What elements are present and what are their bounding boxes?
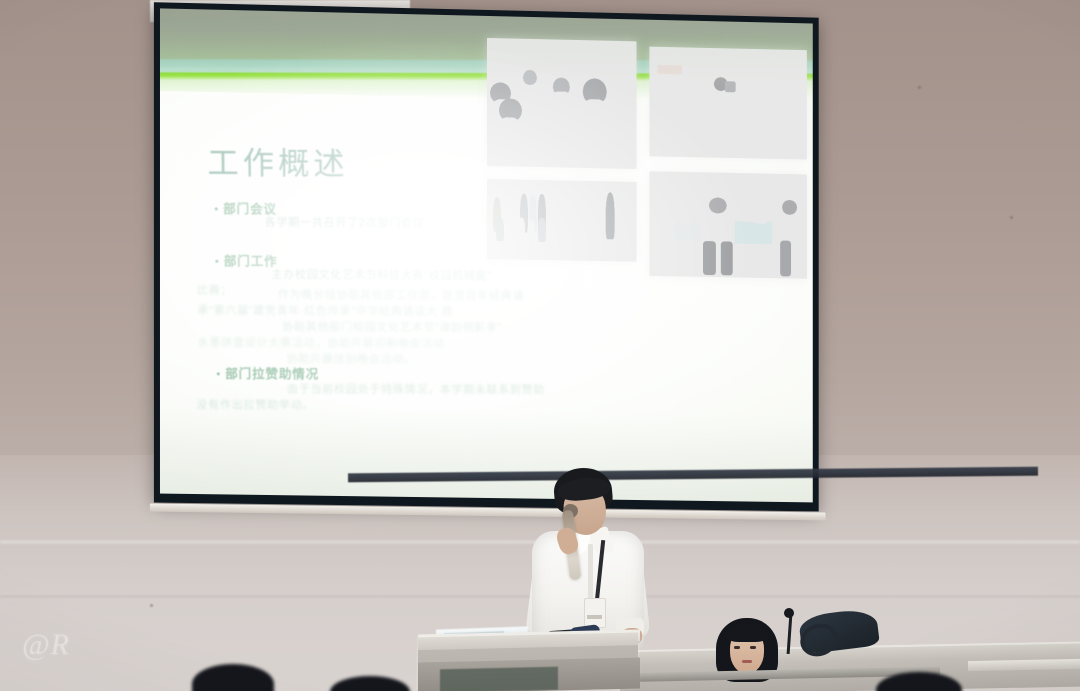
watermark: @R bbox=[22, 628, 70, 662]
wall-blemish bbox=[150, 604, 153, 607]
slide-bullet-2-line-2: 比赛； bbox=[197, 282, 288, 299]
bullet-marker: • bbox=[215, 254, 224, 268]
seated-woman-eye bbox=[750, 646, 756, 649]
wall-blemish bbox=[1010, 216, 1013, 219]
bullet-marker: • bbox=[216, 367, 225, 381]
slide-bullet-2-line-1: 主办校园文化艺术节科技大赛“校园机械能” bbox=[271, 267, 602, 285]
slide-bullet-2-line-7: 协助开展送别晚会活动。 bbox=[286, 351, 587, 368]
slide-bullet-2-line-5: 协助其他部门校园文化艺术节“津韵侧影季” bbox=[282, 319, 613, 337]
desk-microphone-head-icon bbox=[784, 608, 794, 618]
slide: 工作概述 •部门会议 各学期一共召开了2次部门会议 •部门工作 主办校园文化艺术… bbox=[160, 8, 813, 502]
slide-bullet-3-line-2: 没有作出拉赞助举动。 bbox=[196, 397, 498, 414]
slide-bullet-3: •部门拉赞助情况 bbox=[216, 363, 319, 382]
slide-text-layer: 工作概述 •部门会议 各学期一共召开了2次部门会议 •部门工作 主办校园文化艺术… bbox=[160, 12, 813, 498]
seated-woman-mouth bbox=[742, 660, 752, 663]
slide-bullet-3-line-1: 由于当前校园处于特殊情况，本学期未联系到赞助 bbox=[287, 381, 647, 398]
seated-woman-eye bbox=[734, 646, 740, 649]
bullet-marker: • bbox=[214, 202, 223, 216]
presenter bbox=[518, 468, 658, 648]
slide-bullet-2-line-4: 承“第六届”建党青年 红色传承”中华经典诵读大 赛 bbox=[197, 302, 598, 320]
slide-bullet-2: •部门工作 bbox=[215, 250, 278, 269]
projection-screen-surface: 工作概述 •部门会议 各学期一共召开了2次部门会议 •部门工作 主办校园文化艺术… bbox=[160, 8, 813, 502]
slide-bullet-2-line-3: 作为晚分组协助其他部工作员，建党百年经典诵 bbox=[278, 287, 609, 305]
seated-woman-fringe bbox=[726, 624, 768, 642]
lecture-hall-photo: 工作概述 •部门会议 各学期一共召开了2次部门会议 •部门工作 主办校园文化艺术… bbox=[0, 0, 1080, 691]
projection-screen-frame: 工作概述 •部门会议 各学期一共召开了2次部门会议 •部门工作 主办校园文化艺术… bbox=[154, 2, 819, 511]
wall-blemish bbox=[918, 86, 921, 89]
slide-bullet-1-line-1: 各学期一共召开了2次部门会议 bbox=[265, 214, 566, 232]
slide-bullet-3-label: 部门拉赞助情况 bbox=[225, 363, 319, 382]
slide-bullet-2-line-6: 水墨拼盘设计大赛活动，协助开展迎新晚会活动 bbox=[197, 335, 579, 353]
slide-bullet-2-label: 部门工作 bbox=[224, 250, 278, 269]
presenter-badge bbox=[584, 598, 606, 628]
slide-title: 工作概述 bbox=[207, 138, 349, 184]
podium-shelf-opening bbox=[440, 667, 558, 691]
